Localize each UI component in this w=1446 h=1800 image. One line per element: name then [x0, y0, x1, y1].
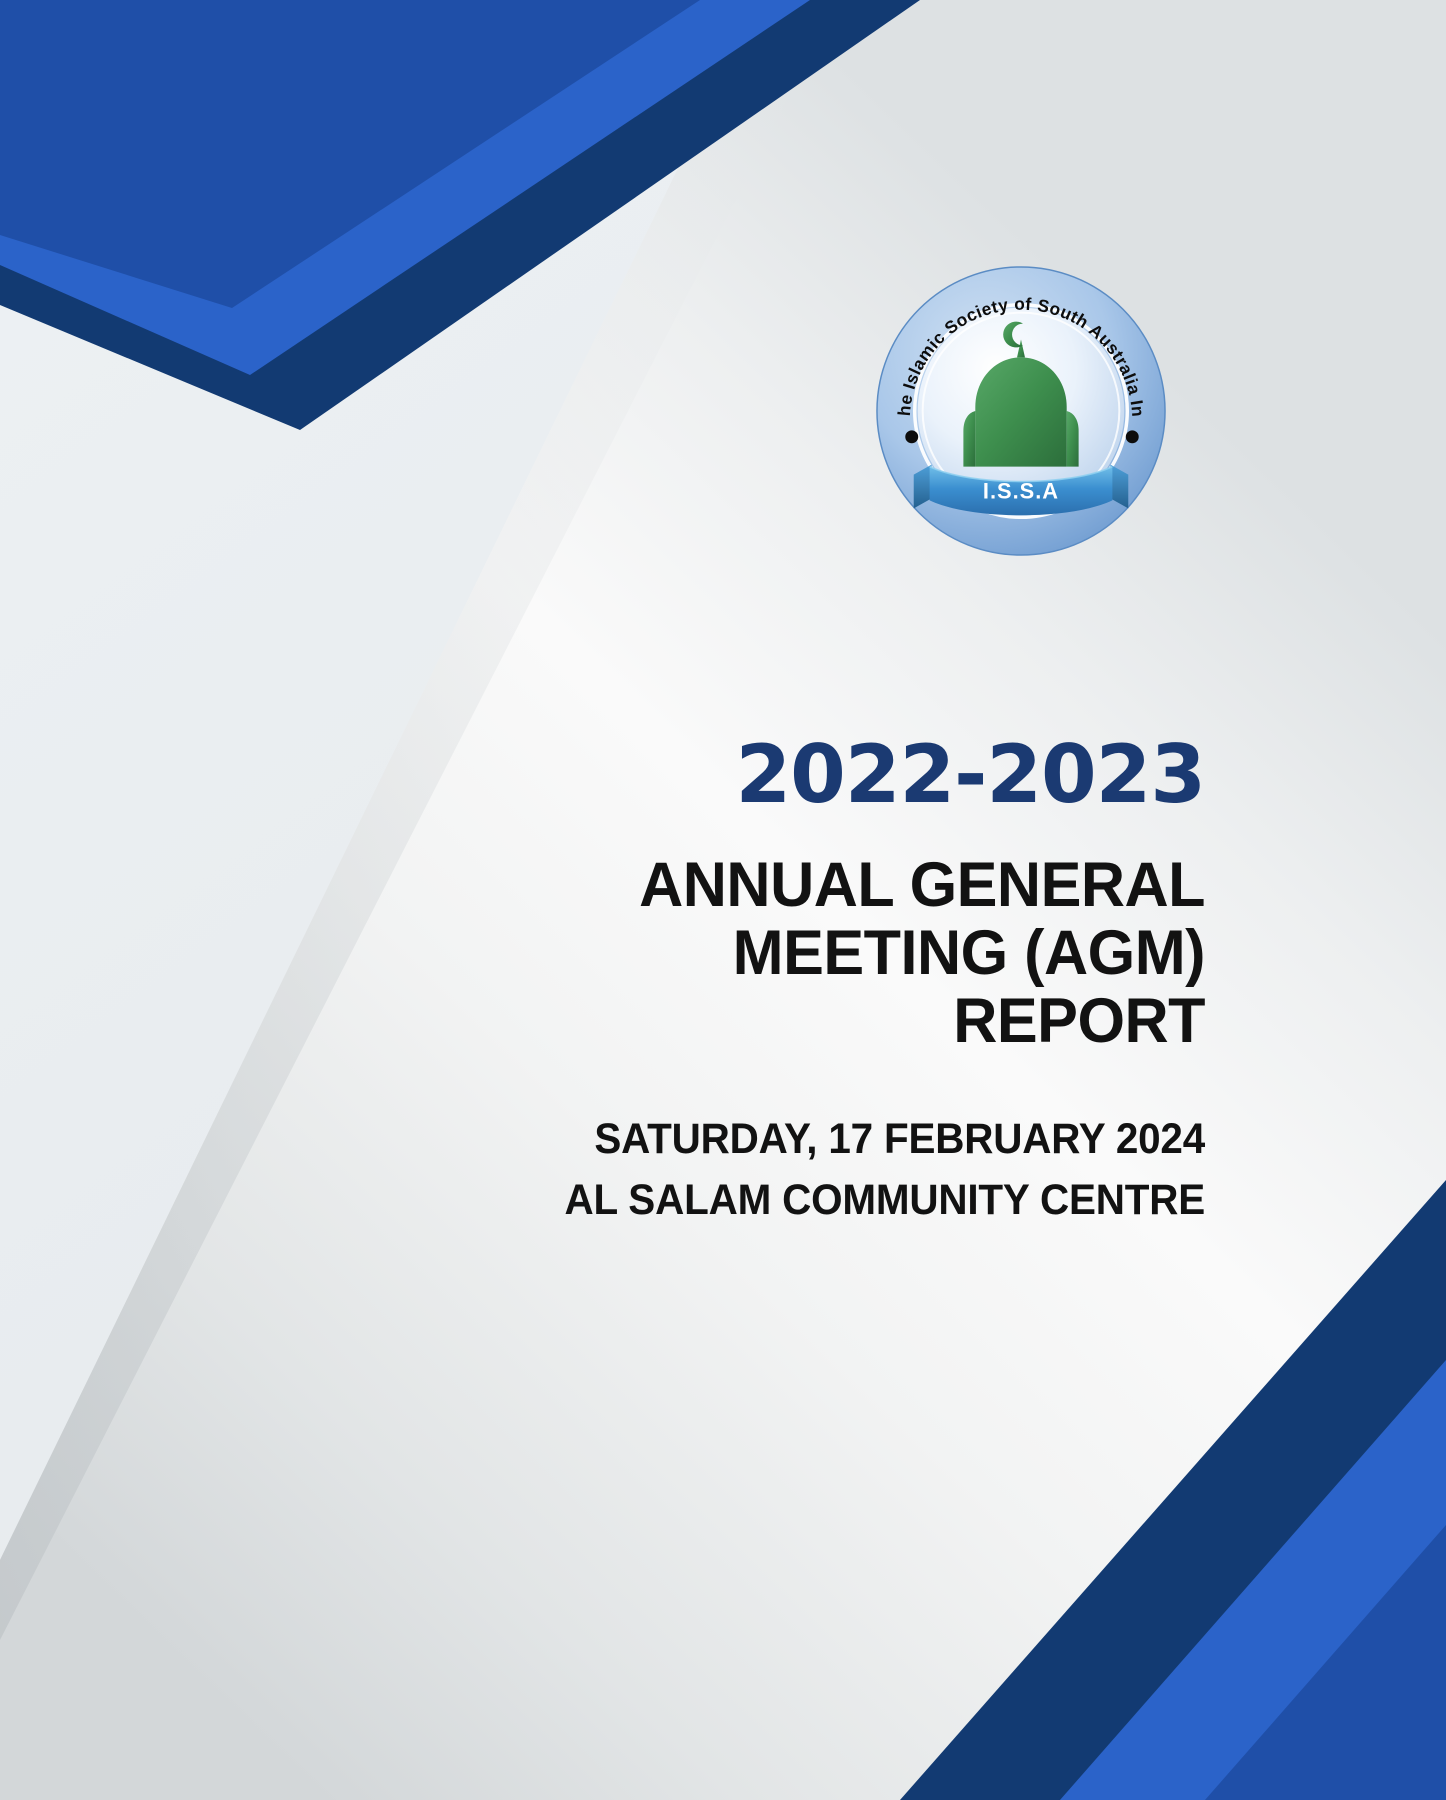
- event-venue: AL SALAM COMMUNITY CENTRE: [354, 1170, 1205, 1231]
- title-line-2: MEETING (AGM): [327, 919, 1205, 987]
- bullet-dot-icon-right: [1126, 430, 1139, 443]
- report-cover-page: The Islamic Society of South Australia I…: [0, 0, 1446, 1800]
- event-date: SATURDAY, 17 FEBRUARY 2024: [354, 1109, 1205, 1170]
- page-title: ANNUAL GENERAL MEETING (AGM) REPORT: [327, 851, 1205, 1055]
- title-line-3: REPORT: [327, 987, 1205, 1055]
- bullet-dot-icon: [905, 430, 918, 443]
- issa-logo-svg: The Islamic Society of South Australia I…: [872, 262, 1170, 560]
- cover-title-block: 2022-2023 ANNUAL GENERAL MEETING (AGM) R…: [300, 735, 1205, 1231]
- logo-banner-text: I.S.S.A: [983, 478, 1059, 503]
- event-details: SATURDAY, 17 FEBRUARY 2024 AL SALAM COMM…: [300, 1109, 1205, 1231]
- issa-logo: The Islamic Society of South Australia I…: [872, 262, 1170, 560]
- year-range: 2022-2023: [300, 735, 1205, 815]
- title-line-1: ANNUAL GENERAL: [327, 851, 1205, 919]
